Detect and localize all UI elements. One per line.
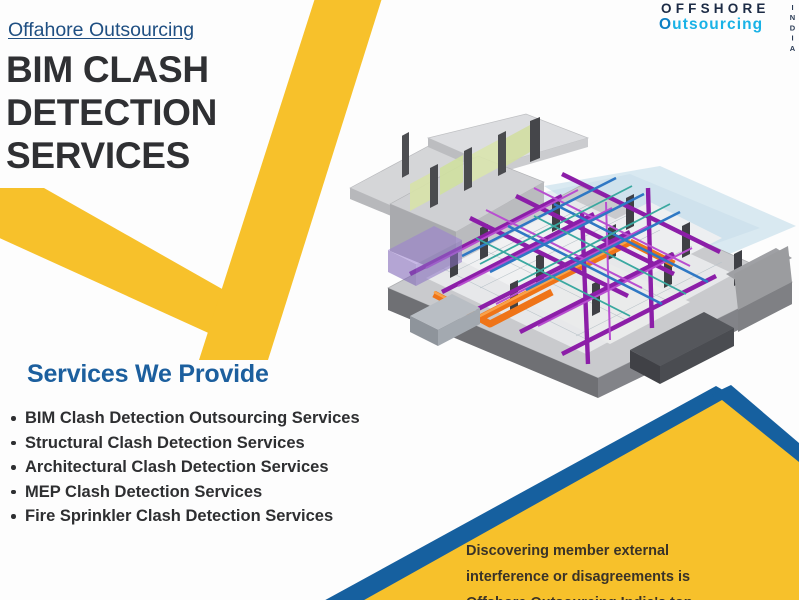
logo-india-vertical-text: INDIA [789, 3, 796, 36]
logo-offshore-text: OFFSHORE [659, 1, 795, 16]
footer-paragraph-line-3: Offshore Outsourcing India's top [466, 590, 788, 600]
bim-3d-model-svg [330, 78, 799, 408]
services-list: BIM Clash Detection Outsourcing Services… [8, 406, 438, 529]
logo-outsourcing-capital: O [659, 16, 672, 33]
list-item: MEP Clash Detection Services [8, 480, 438, 505]
services-heading: Services We Provide [27, 360, 269, 389]
page-title-line-2: DETECTION [6, 91, 306, 134]
footer-paragraph-line-2: interference or disagreements is [466, 564, 788, 590]
logo-outsourcing-text: Outsourcing [659, 16, 795, 33]
page-title: BIM CLASH DETECTION SERVICES [6, 48, 306, 177]
list-item: Fire Sprinkler Clash Detection Services [8, 504, 438, 529]
footer-paragraph-line-1: Discovering member external [466, 538, 788, 564]
page-title-line-3: SERVICES [6, 134, 306, 177]
yellow-chevron-left-stroke [0, 188, 268, 360]
logo-outsourcing-rest: utsourcing [672, 16, 763, 33]
brand-logo[interactable]: OFFSHORE Outsourcing INDIA [659, 1, 795, 37]
kicker-link[interactable]: Offahore Outsourcing [8, 19, 194, 42]
list-item: Structural Clash Detection Services [8, 431, 438, 456]
poster-canvas: OFFSHORE Outsourcing INDIA Offahore Outs… [0, 0, 799, 600]
list-item: Architectural Clash Detection Services [8, 455, 438, 480]
page-title-line-1: BIM CLASH [6, 48, 306, 91]
footer-paragraph: Discovering member external interference… [466, 538, 788, 600]
bim-illustration [330, 78, 799, 408]
list-item: BIM Clash Detection Outsourcing Services [8, 406, 438, 431]
